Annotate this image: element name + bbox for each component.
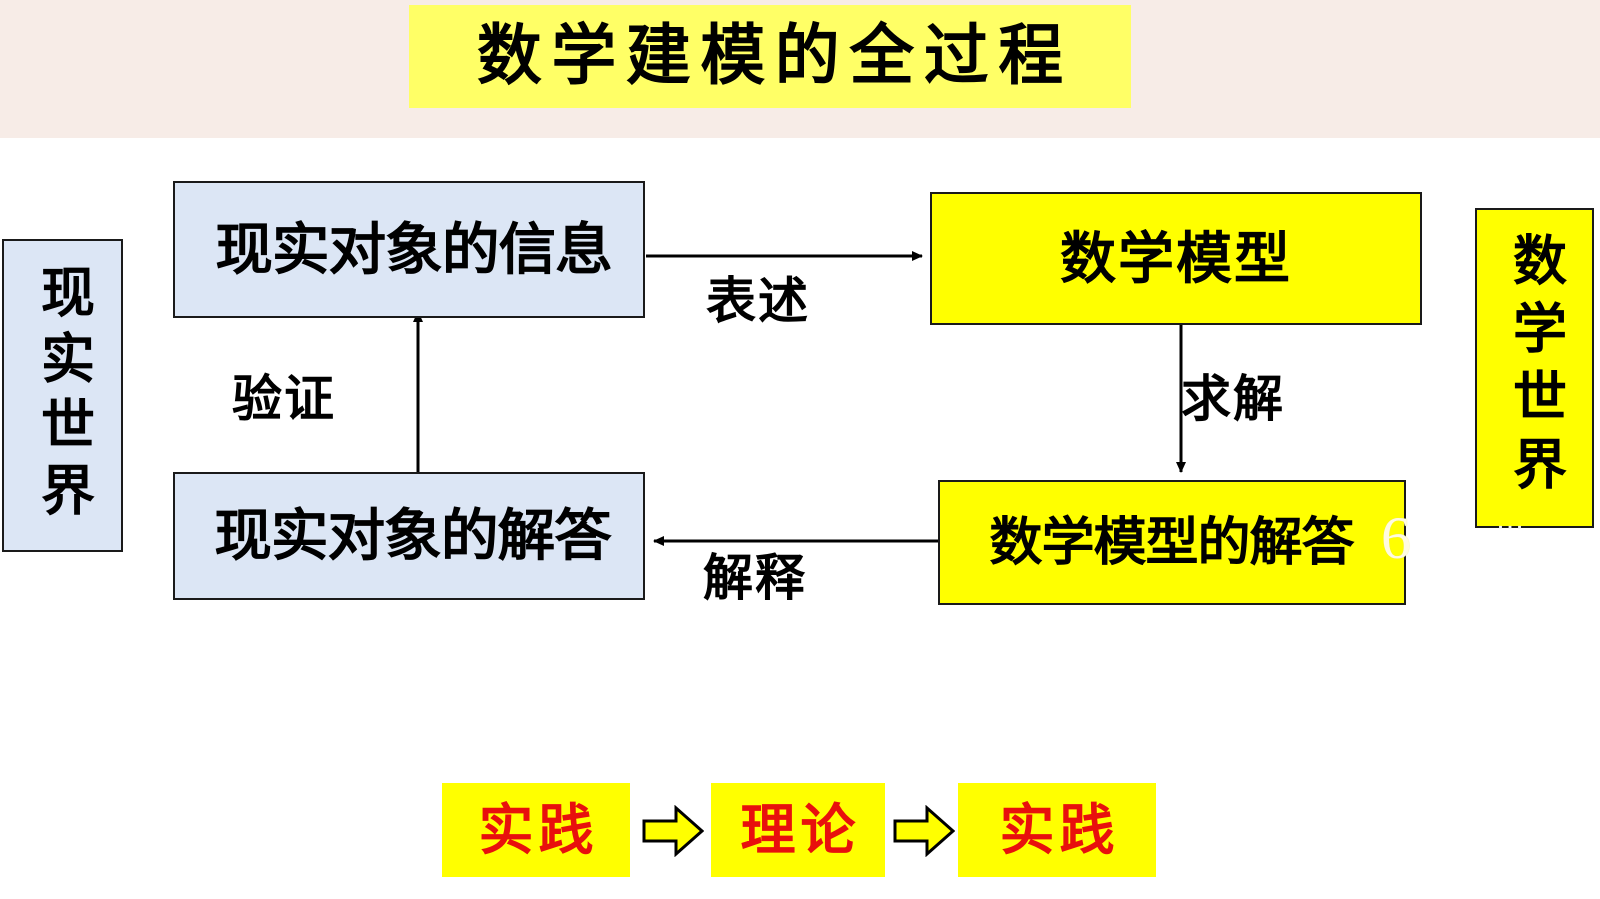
cycle-box-practice-1-label: 实践: [473, 803, 598, 858]
watermark-dots: …: [1495, 505, 1529, 535]
node-math-model-answer-label: 数学模型的解答: [990, 517, 1354, 569]
edge-label-verify: 验证: [232, 374, 336, 424]
cycle-block-arrow-2: [893, 805, 955, 857]
node-real-object-answer-label: 现实对象的解答: [214, 508, 611, 564]
node-real-world-label: 现实世界: [36, 264, 90, 528]
cycle-box-practice-1[interactable]: 实践: [442, 783, 630, 877]
node-math-world-label: 数学世界: [1508, 232, 1562, 504]
cycle-box-theory[interactable]: 理论: [711, 783, 885, 877]
edge-label-solve: 求解: [1181, 374, 1285, 424]
cycle-box-practice-2-label: 实践: [994, 803, 1119, 858]
node-real-world[interactable]: 现实世界: [2, 239, 123, 552]
node-math-model-answer[interactable]: 数学模型的解答: [938, 480, 1406, 605]
title-box: 数学建模的全过程: [409, 5, 1131, 108]
cycle-box-theory-label: 理论: [735, 803, 860, 858]
node-math-model[interactable]: 数学模型: [930, 192, 1422, 325]
node-math-world[interactable]: 数学世界: [1475, 208, 1594, 528]
slide-canvas: 数学建模的全过程 现实世界 现实对象的信息 现实对象的解答: [0, 0, 1600, 899]
edge-label-explain: 解释: [703, 553, 807, 603]
node-real-object-answer[interactable]: 现实对象的解答: [173, 472, 645, 600]
node-real-object-info-label: 现实对象的信息: [215, 222, 612, 278]
slide-number-watermark: 6: [1381, 508, 1411, 568]
cycle-box-practice-2[interactable]: 实践: [958, 783, 1156, 877]
node-real-object-info[interactable]: 现实对象的信息: [173, 181, 645, 318]
edge-label-express: 表述: [706, 276, 810, 326]
page-title: 数学建模的全过程: [467, 24, 1073, 90]
cycle-block-arrow-1: [642, 805, 704, 857]
node-math-model-label: 数学模型: [1060, 231, 1292, 287]
